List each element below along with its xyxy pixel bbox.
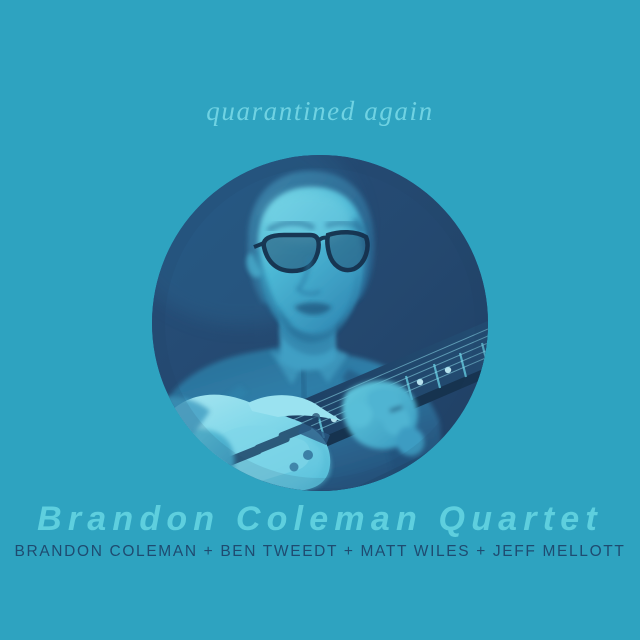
album-title: quarantined again bbox=[0, 96, 640, 127]
band-member-list: BRANDON COLEMAN + BEN TWEEDT + MATT WILE… bbox=[0, 543, 640, 561]
artwork-photo-circle bbox=[152, 155, 488, 491]
band-name: Brandon Coleman Quartet bbox=[0, 500, 640, 539]
guitarist-portrait-icon bbox=[152, 155, 488, 491]
album-cover: quarantined again bbox=[0, 0, 640, 640]
